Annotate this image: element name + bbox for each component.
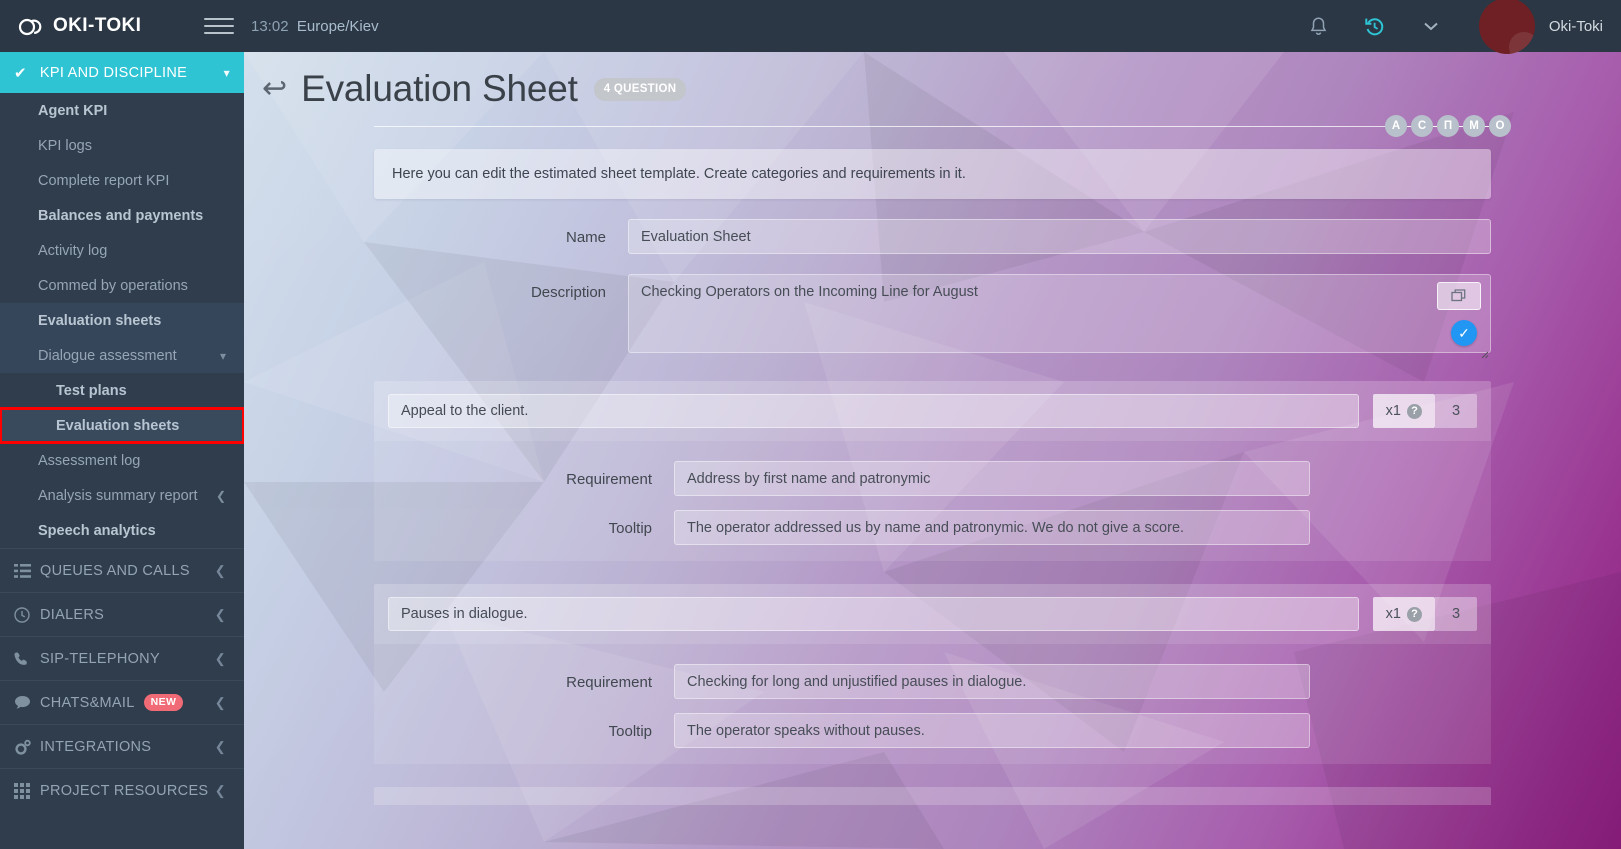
clock-icon [14,607,40,623]
description-label: Description [374,274,628,301]
notification-bell-icon[interactable] [1293,0,1345,52]
name-input[interactable] [628,219,1491,254]
main-content: ↩ Evaluation Sheet 4 QUESTION А С П М О … [244,52,1621,849]
chevron-down-icon: ▾ [224,66,230,80]
question-mark-icon[interactable]: ? [1407,404,1422,419]
top-bar-actions: Oki-Toki [1293,0,1621,52]
resize-handle-icon[interactable] [1479,346,1489,356]
chat-bubble-icon [14,695,40,710]
chevron-left-icon: ❮ [215,739,244,755]
question-body: Requirement Tooltip [374,441,1491,561]
new-badge: NEW [144,694,184,711]
sidebar-group-dialers[interactable]: DIALERS ❮ [0,592,244,636]
sidebar-item-label: Analysis summary report [38,488,198,504]
chip-p[interactable]: П [1437,115,1459,137]
question-score[interactable]: 3 [1435,597,1477,631]
sidebar-item-label: Complete report KPI [38,173,169,189]
info-notice: Here you can edit the estimated sheet te… [374,149,1491,199]
page-title: Evaluation Sheet [301,68,578,110]
question-score[interactable]: 3 [1435,394,1477,428]
header-divider: А С П М О [374,126,1491,127]
sidebar-item-label: Evaluation sheets [56,418,179,434]
page-scroll-area[interactable]: ↩ Evaluation Sheet 4 QUESTION А С П М О … [244,52,1621,849]
requirement-input[interactable] [674,461,1310,496]
sidebar-section-kpi-and-discipline[interactable]: ✔ KPI AND DISCIPLINE ▾ [0,52,244,93]
tooltip-row: Tooltip [374,510,1397,545]
timezone-label: Europe/Kiev [297,18,379,35]
chevron-down-icon[interactable] [1405,0,1457,52]
sidebar-item-balances-and-payments[interactable]: Balances and payments [0,198,244,233]
grid-icon [14,783,40,799]
page-header: ↩ Evaluation Sheet 4 QUESTION [244,52,1621,110]
sidebar-item-label: Agent KPI [38,103,107,119]
description-field-row: Description ✓ [374,274,1491,358]
copy-icon[interactable] [1437,282,1481,310]
sidebar-item-complete-report-kpi[interactable]: Complete report KPI [0,163,244,198]
name-label: Name [374,219,628,246]
user-name[interactable]: Oki-Toki [1549,18,1607,35]
sidebar-item-label: Balances and payments [38,208,203,224]
chevron-left-icon: ❮ [215,563,244,579]
sidebar-item-label: Evaluation sheets [38,313,161,329]
sidebar-group-label: DIALERS [40,607,104,623]
question-count-badge: 4 QUESTION [594,78,687,101]
sidebar-item-dialogue-assessment[interactable]: Dialogue assessment ▾ [0,338,244,373]
weight-label: x1 [1386,606,1401,622]
sidebar-group-label: SIP-TELEPHONY [40,651,160,667]
question-weight-button[interactable]: x1 ? [1373,597,1435,631]
chip-o[interactable]: О [1489,115,1511,137]
tooltip-input[interactable] [674,510,1310,545]
chevron-left-icon: ❮ [215,651,244,667]
sidebar-group-label: QUEUES AND CALLS [40,563,190,579]
sidebar-group-label: INTEGRATIONS [40,739,151,755]
question-body: Requirement Tooltip [374,644,1491,764]
sidebar-item-test-plans[interactable]: Test plans [0,373,244,408]
chevron-left-icon: ❮ [215,783,244,799]
sidebar-group-project-resources[interactable]: PROJECT RESOURCES ❮ [0,768,244,812]
hamburger-menu-icon[interactable] [204,13,234,39]
sidebar-item-label: Assessment log [38,453,140,469]
sidebar-item-label: Commed by operations [38,278,188,294]
chevron-left-icon: ❮ [215,695,244,711]
history-rotate-icon[interactable] [1349,0,1401,52]
sidebar-item-label: KPI logs [38,138,92,154]
confirm-check-icon[interactable]: ✓ [1451,320,1477,346]
name-field-row: Name [374,219,1491,254]
requirement-row: Requirement [374,664,1397,699]
question-title-input[interactable] [388,394,1359,428]
question-header [374,787,1491,805]
sidebar-item-kpi-logs[interactable]: KPI logs [0,128,244,163]
requirement-row: Requirement [374,461,1397,496]
question-header: x1 ? 3 [374,584,1491,644]
tooltip-input[interactable] [674,713,1310,748]
chip-m[interactable]: М [1463,115,1485,137]
requirement-input[interactable] [674,664,1310,699]
top-bar: OKI-TOKI 13:02 Europe/Kiev Oki-Toki [0,0,1621,52]
brand-logo[interactable]: OKI-TOKI [0,15,194,37]
tooltip-label: Tooltip [374,510,674,537]
gears-icon [14,739,40,755]
description-textarea[interactable] [628,274,1491,353]
check-icon: ✔ [14,64,27,82]
sidebar-item-analysis-summary-report[interactable]: Analysis summary report ❮ [0,478,244,513]
sidebar-item-commed-by-operations[interactable]: Commed by operations [0,268,244,303]
chip-s[interactable]: С [1411,115,1433,137]
chip-a[interactable]: А [1385,115,1407,137]
brand-name: OKI-TOKI [53,15,141,37]
sidebar-item-label: Dialogue assessment [38,348,177,364]
question-card: x1 ? 3 Requirement Tooltip [374,584,1491,764]
sidebar-item-label: Activity log [38,243,107,259]
sidebar-item-assessment-log[interactable]: Assessment log [0,443,244,478]
clock-timezone: 13:02 Europe/Kiev [251,18,379,35]
chevron-left-icon: ❮ [216,489,244,503]
question-card: x1 ? 3 Requirement Tooltip [374,381,1491,561]
sidebar-item-activity-log[interactable]: Activity log [0,233,244,268]
sidebar-group-sip-telephony[interactable]: SIP-TELEPHONY ❮ [0,636,244,680]
current-time: 13:02 [251,18,289,35]
question-title-input[interactable] [388,597,1359,631]
chevron-left-icon: ❮ [215,607,244,623]
tooltip-row: Tooltip [374,713,1397,748]
question-mark-icon[interactable]: ? [1407,607,1422,622]
list-icon [14,564,40,578]
phone-icon [14,651,40,667]
sidebar-item-evaluation-sheets[interactable]: Evaluation sheets [0,408,244,443]
sidebar-group-chats-and-mail[interactable]: CHATS&MAIL NEW ❮ [0,680,244,724]
back-arrow-icon[interactable]: ↩ [262,74,287,104]
sidebar: ✔ KPI AND DISCIPLINE ▾ Agent KPI KPI log… [0,52,244,849]
sidebar-group-label: PROJECT RESOURCES [40,783,208,799]
question-header: x1 ? 3 [374,381,1491,441]
weight-label: x1 [1386,403,1401,419]
question-card-partial [374,787,1491,805]
sidebar-item-speech-analytics[interactable]: Speech analytics [0,513,244,548]
sidebar-group-label: CHATS&MAIL [40,695,135,711]
chevron-down-icon: ▾ [220,349,244,363]
requirement-label: Requirement [374,664,674,691]
tooltip-label: Tooltip [374,713,674,740]
requirement-label: Requirement [374,461,674,488]
sidebar-group-integrations[interactable]: INTEGRATIONS ❮ [0,724,244,768]
sidebar-item-label: Speech analytics [38,523,156,539]
sidebar-item-evaluation-sheets-group[interactable]: Evaluation sheets [0,303,244,338]
sidebar-item-agent-kpi[interactable]: Agent KPI [0,93,244,128]
avatar[interactable] [1479,0,1535,54]
sidebar-item-label: Test plans [56,383,127,399]
cloud-logo-icon [18,16,44,36]
sidebar-section-label: KPI AND DISCIPLINE [40,65,187,81]
question-weight-button[interactable]: x1 ? [1373,394,1435,428]
breadcrumb-chips: А С П М О [1385,115,1511,137]
sidebar-group-queues-and-calls[interactable]: QUEUES AND CALLS ❮ [0,548,244,592]
